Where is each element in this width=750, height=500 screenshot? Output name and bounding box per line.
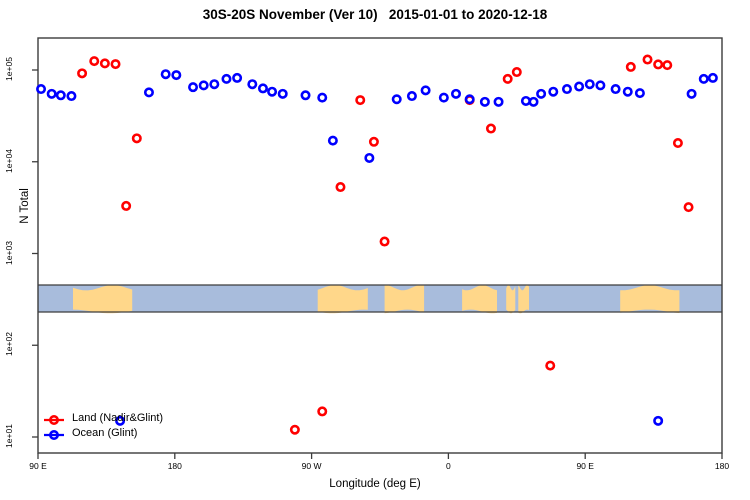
chart-figure: 30S-20S November (Ver 10) 2015-01-01 to … bbox=[0, 0, 750, 500]
data-point bbox=[381, 238, 388, 245]
data-points bbox=[37, 56, 716, 434]
data-point bbox=[162, 71, 169, 78]
data-point bbox=[644, 56, 651, 63]
y-tick-label: 1e+04 bbox=[4, 144, 14, 178]
data-point bbox=[440, 94, 447, 101]
data-point bbox=[366, 154, 373, 161]
data-point bbox=[122, 202, 129, 209]
data-point bbox=[575, 83, 582, 90]
data-point bbox=[48, 90, 55, 97]
data-point bbox=[78, 70, 85, 77]
data-point bbox=[393, 96, 400, 103]
data-point bbox=[452, 90, 459, 97]
data-point bbox=[654, 61, 661, 68]
data-point bbox=[57, 92, 64, 99]
x-tick-label: 180 bbox=[692, 461, 750, 471]
data-point bbox=[200, 82, 207, 89]
data-point bbox=[408, 92, 415, 99]
data-point bbox=[268, 88, 275, 95]
x-tick-label: 0 bbox=[418, 461, 478, 471]
data-point bbox=[664, 61, 671, 68]
data-point bbox=[422, 87, 429, 94]
data-point bbox=[530, 98, 537, 105]
plot-canvas bbox=[0, 0, 750, 500]
data-point bbox=[329, 137, 336, 144]
legend-label: Land (Nadir&Glint) bbox=[72, 412, 163, 424]
data-point bbox=[495, 98, 502, 105]
data-point bbox=[189, 83, 196, 90]
x-tick-label: 90 W bbox=[282, 461, 342, 471]
y-tick-label: 1e+02 bbox=[4, 327, 14, 361]
data-point bbox=[586, 81, 593, 88]
data-point bbox=[513, 68, 520, 75]
data-point bbox=[522, 97, 529, 104]
data-point bbox=[112, 60, 119, 67]
data-point bbox=[550, 88, 557, 95]
data-point bbox=[504, 75, 511, 82]
ocean-band bbox=[38, 285, 722, 312]
data-point bbox=[133, 135, 140, 142]
x-tick-label: 90 E bbox=[8, 461, 68, 471]
data-point bbox=[68, 92, 75, 99]
axes-frame bbox=[38, 38, 722, 453]
data-point bbox=[700, 75, 707, 82]
data-point bbox=[91, 57, 98, 64]
data-point bbox=[173, 71, 180, 78]
data-point bbox=[37, 85, 44, 92]
data-point bbox=[279, 90, 286, 97]
data-point bbox=[547, 362, 554, 369]
data-point bbox=[302, 92, 309, 99]
y-tick-label: 1e+05 bbox=[4, 52, 14, 86]
data-point bbox=[627, 63, 634, 70]
data-point bbox=[487, 125, 494, 132]
data-point bbox=[612, 85, 619, 92]
data-point bbox=[291, 426, 298, 433]
x-tick-label: 180 bbox=[145, 461, 205, 471]
y-tick-label: 1e+01 bbox=[4, 419, 14, 453]
data-point bbox=[481, 98, 488, 105]
data-point bbox=[211, 81, 218, 88]
data-point bbox=[688, 90, 695, 97]
legend-label: Ocean (Glint) bbox=[72, 427, 137, 439]
data-point bbox=[466, 96, 473, 103]
data-point bbox=[319, 408, 326, 415]
data-point bbox=[674, 139, 681, 146]
data-point bbox=[709, 74, 716, 81]
data-point bbox=[259, 85, 266, 92]
data-point bbox=[654, 417, 661, 424]
legend-markers bbox=[44, 416, 64, 438]
data-point bbox=[685, 203, 692, 210]
axis-ticks bbox=[32, 70, 722, 459]
data-point bbox=[337, 183, 344, 190]
y-tick-label: 1e+03 bbox=[4, 236, 14, 270]
land-segment bbox=[506, 285, 515, 313]
data-point bbox=[636, 89, 643, 96]
data-point bbox=[624, 88, 631, 95]
data-point bbox=[145, 89, 152, 96]
plot-frame bbox=[38, 38, 722, 453]
data-point bbox=[223, 75, 230, 82]
x-tick-label: 90 E bbox=[555, 461, 615, 471]
data-point bbox=[563, 85, 570, 92]
data-point bbox=[537, 90, 544, 97]
data-point bbox=[319, 94, 326, 101]
data-point bbox=[370, 138, 377, 145]
data-point bbox=[249, 81, 256, 88]
land-ocean-band bbox=[38, 285, 722, 313]
data-point bbox=[597, 82, 604, 89]
data-point bbox=[233, 74, 240, 81]
data-point bbox=[357, 96, 364, 103]
data-point bbox=[101, 60, 108, 67]
